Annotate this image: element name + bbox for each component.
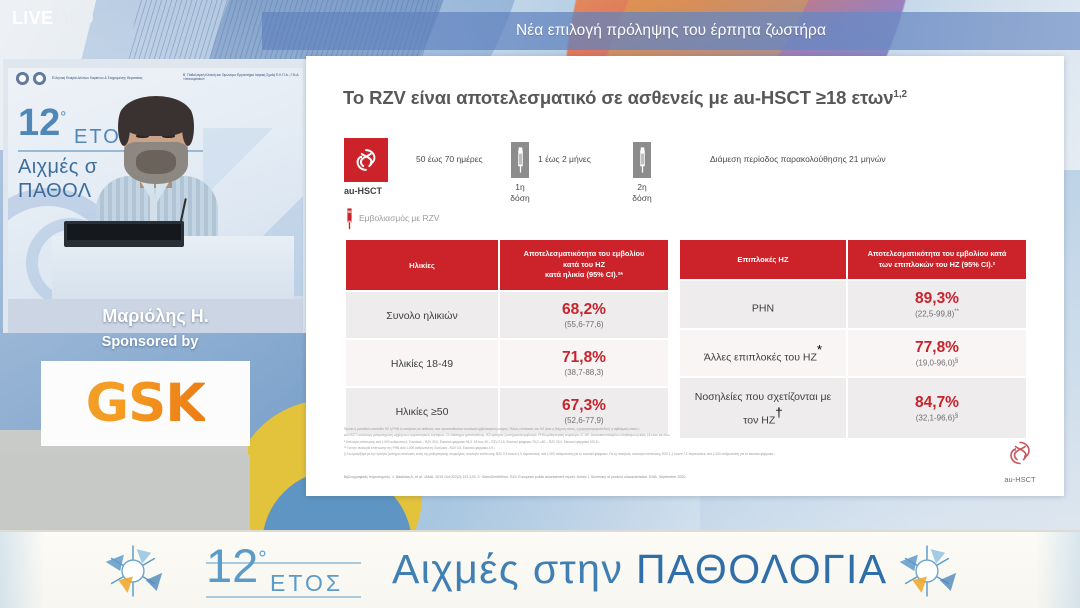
hsct-label: au-HSCT <box>344 186 382 196</box>
row-value-cell: 89,3% (22,5-99,8)** <box>847 280 1027 328</box>
banner-title-part-2: ΠΑΘΟΛΟΓΙΑ <box>636 546 887 592</box>
confidence-interval: (19,0-96,0)§ <box>854 358 1020 368</box>
ci-superscript: § <box>955 358 958 364</box>
timeline-gap-1: 50 έως 70 ημέρες <box>416 154 483 164</box>
backdrop-degree-symbol: ° <box>60 108 66 125</box>
speaker-hair-side-left <box>118 108 130 146</box>
row-label: Ηλικίες 18-49 <box>391 358 453 370</box>
header-line-1: Αποτελεσματικότητα του εμβολίου κατά <box>854 249 1020 260</box>
vaccination-timeline: au-HSCT 50 έως 70 ημέρες 1η δόση 1 έως 2… <box>344 138 984 228</box>
backdrop-org-right-text: Β΄ Παθολογική Κλινική και Ομώνυμο Εργαστ… <box>183 73 303 82</box>
ci-value: (22,5-99,8) <box>915 310 954 319</box>
efficacy-value: 71,8% <box>506 349 662 367</box>
footnote-line: * Αναλογία επίπτωσης ανά 1.000 ανθρωπινέ… <box>344 440 1016 445</box>
livemed-logo-light: MED <box>53 8 94 28</box>
confidence-interval: (22,5-99,8)** <box>854 309 1020 319</box>
column-header-ages: Ηλικίες <box>345 239 499 291</box>
table-row: Ηλικίες 18-49 71,8% (38,7-88,3) <box>345 339 669 387</box>
slide-references: Βιβλιογραφικές παραπομπές: 1. Bastidas A… <box>344 475 1016 479</box>
gsk-logo: GSK <box>86 373 206 434</box>
syringe-icon-1 <box>511 142 529 178</box>
sponsor-logo-box[interactable]: GSK <box>41 361 250 446</box>
org-seal-icon-1 <box>16 72 29 85</box>
ci-superscript: ** <box>954 309 959 315</box>
row-label-superscript: * <box>817 342 822 357</box>
followup-period-label: Διάμεση περίοδος παρακολούθησης 21 μηνών <box>710 154 886 164</box>
syringe-legend-icon <box>344 208 355 230</box>
dna-recycle-icon <box>1003 437 1037 469</box>
speaker-name-bar: Μαριόλης Η. <box>8 299 303 333</box>
efficacy-value: 84,7% <box>854 394 1020 412</box>
header-line-2: κατά του HZ <box>506 260 662 271</box>
confidence-interval: (38,7-88,3) <box>506 368 662 377</box>
table-row: Συνολο ηλικιών 68,2% (55,6-77,6) <box>345 291 669 339</box>
footnote-line: § Για εμπλέξαμε με την έρπητα ζωστήρα επ… <box>344 452 1016 457</box>
slide-corner-logo: au-HSCT <box>992 437 1048 484</box>
row-label-cell: Ηλικίες 18-49 <box>345 339 499 387</box>
banner-title-part-1: Αιχμές στην <box>392 546 636 592</box>
row-label: Συνολο ηλικιών <box>386 310 457 322</box>
sponsored-by-label: Sponsored by <box>3 334 297 350</box>
slide-footnotes: Πρώτο ή μοναδικό επεισόδιο ΗΖ ή PHN ή νο… <box>344 427 1016 458</box>
row-label-cell: Άλλες επιπλοκές του HZ* <box>679 329 847 377</box>
banner-year-value: 12 <box>206 539 258 592</box>
column-header-efficacy-complications: Αποτελεσματικότητα του εμβολίου κατά των… <box>847 239 1027 280</box>
efficacy-value: 67,3% <box>506 397 662 415</box>
table-row: Άλλες επιπλοκές του HZ* 77,8% (19,0-96,0… <box>679 329 1027 377</box>
speaker-mouth-area <box>136 150 176 174</box>
efficacy-value: 68,2% <box>506 301 662 319</box>
livemed-logo: LIVEMED <box>12 8 94 29</box>
backdrop-year-number: 12° <box>18 104 66 142</box>
banner-year-number: 12° <box>206 542 267 589</box>
livemed-logo-bold: LIVE <box>12 8 53 28</box>
efficacy-value: 89,3% <box>854 290 1020 308</box>
syringe-icon-2 <box>633 142 651 178</box>
table-row: PHN 89,3% (22,5-99,8)** <box>679 280 1027 328</box>
row-label: Άλλες επιπλοκές του HZ <box>704 351 817 363</box>
presentation-slide[interactable]: Το RZV είναι αποτελεσματικό σε ασθενείς … <box>306 56 1064 496</box>
column-header-complications: Επιπλοκές HZ <box>679 239 847 280</box>
backdrop-year-value: 12 <box>18 102 60 144</box>
backdrop-line-2: ΠΑΘΟΛ <box>18 180 91 203</box>
slide-title-text: Το RZV είναι αποτελεσματικό σε ασθενείς … <box>343 87 893 108</box>
header-line-2: των επιπλοκών του HZ (95% CI).² <box>854 260 1020 271</box>
header-bar: Νέα επιλογή πρόληψης του έρπητα ζωστήρα <box>262 12 1080 50</box>
org-seal-icon-2 <box>33 72 46 85</box>
banner-ornament-right-icon <box>890 540 964 602</box>
dna-recycle-icon <box>344 138 388 182</box>
footnote-line: Πρώτο ή μοναδικό επεισόδιο ΗΖ ή PHN ή νο… <box>344 427 1016 432</box>
timeline-gap-2: 1 έως 2 μήνες <box>538 154 591 164</box>
row-label: Ηλικίες ≥50 <box>396 406 449 418</box>
efficacy-by-age-table: Ηλικίες Αποτελεσματικότητα του εμβολίου … <box>344 238 670 436</box>
laptop-screen <box>67 224 181 240</box>
background-grey-panel-2 <box>0 455 250 535</box>
ci-value: (32,1-96,6) <box>916 413 955 422</box>
slide-title: Το RZV είναι αποτελεσματικό σε ασθενείς … <box>343 87 907 109</box>
banner-edge-right <box>1036 532 1080 608</box>
banner-event-title: Αιχμές στην ΠΑΘΟΛΟΓΙΑ <box>392 546 888 593</box>
speaker-hair-side-right <box>182 108 194 146</box>
slide-corner-logo-label: au-HSCT <box>992 475 1048 484</box>
header-line-3: κατά ηλικία (95% CI).²* <box>506 270 662 281</box>
syringe-legend-label: Εμβολιασμός με RZV <box>359 213 439 223</box>
table-header-row: Ηλικίες Αποτελεσματικότητα του εμβολίου … <box>345 239 669 291</box>
row-label-cell: Συνολο ηλικιών <box>345 291 499 339</box>
backdrop-line-1: Αιχμές σ <box>18 156 97 179</box>
footnote-line: ** Για την αναλογία επίπτωσης της PHN αν… <box>344 446 1016 451</box>
session-title: Νέα επιλογή πρόληψης του έρπητα ζωστήρα <box>516 22 826 40</box>
row-value-cell: 71,8% (38,7-88,3) <box>499 339 669 387</box>
efficacy-by-complication-table: Επιπλοκές HZ Αποτελεσματικότητα του εμβο… <box>678 238 1028 440</box>
slide-title-superscript: 1,2 <box>893 89 907 100</box>
row-label-superscript: † <box>775 405 782 420</box>
video-panel[interactable]: Ελληνική Εταιρία Δελτίων Καρκίνου & Στοχ… <box>3 59 308 333</box>
confidence-interval: (52,6-77,9) <box>506 416 662 425</box>
ci-value: (19,0-96,0) <box>916 358 955 367</box>
confidence-interval: (32,1-96,6)§ <box>854 413 1020 423</box>
row-value-cell: 68,2% (55,6-77,6) <box>499 291 669 339</box>
backdrop-org-logos: Ελληνική Εταιρία Δελτίων Καρκίνου & Στοχ… <box>16 72 143 85</box>
dose-1-label: 1η δόση <box>495 182 545 203</box>
row-value-cell: 77,8% (19,0-96,0)§ <box>847 329 1027 377</box>
footnote-line: au-HSCT=αυτόλογη μεταμόσχευση αρχέγονων … <box>344 433 1016 438</box>
banner-etos-label: ΕΤΟΣ <box>270 570 343 597</box>
row-label: Νοσηλείες που σχετίζονται με τον HZ <box>695 391 831 426</box>
event-banner: 12° ΕΤΟΣ Αιχμές στην ΠΑΘΟΛΟΓΙΑ <box>0 530 1080 608</box>
header-line-1: Αποτελεσματικότητα του εμβολίου <box>506 249 662 260</box>
laptop <box>64 221 184 247</box>
banner-rule-bottom <box>206 596 361 598</box>
ci-superscript: § <box>955 413 958 419</box>
confidence-interval: (55,6-77,6) <box>506 320 662 329</box>
video-stream[interactable]: Ελληνική Εταιρία Δελτίων Καρκίνου & Στοχ… <box>8 68 303 299</box>
table-header-row: Επιπλοκές HZ Αποτελεσματικότητα του εμβο… <box>679 239 1027 280</box>
backdrop-org-left-text: Ελληνική Εταιρία Δελτίων Καρκίνου & Στοχ… <box>52 76 143 80</box>
row-label: PHN <box>752 302 774 314</box>
column-header-efficacy-by-age: Αποτελεσματικότητα του εμβολίου κατά του… <box>499 239 669 291</box>
row-label-cell: PHN <box>679 280 847 328</box>
banner-edge-left <box>0 532 44 608</box>
dose-2-label: 2η δόση <box>617 182 667 203</box>
banner-degree-symbol: ° <box>258 547 266 570</box>
speaker-name: Μαριόλης Η. <box>102 306 209 327</box>
efficacy-value: 77,8% <box>854 339 1020 357</box>
banner-ornament-left-icon <box>96 540 170 602</box>
